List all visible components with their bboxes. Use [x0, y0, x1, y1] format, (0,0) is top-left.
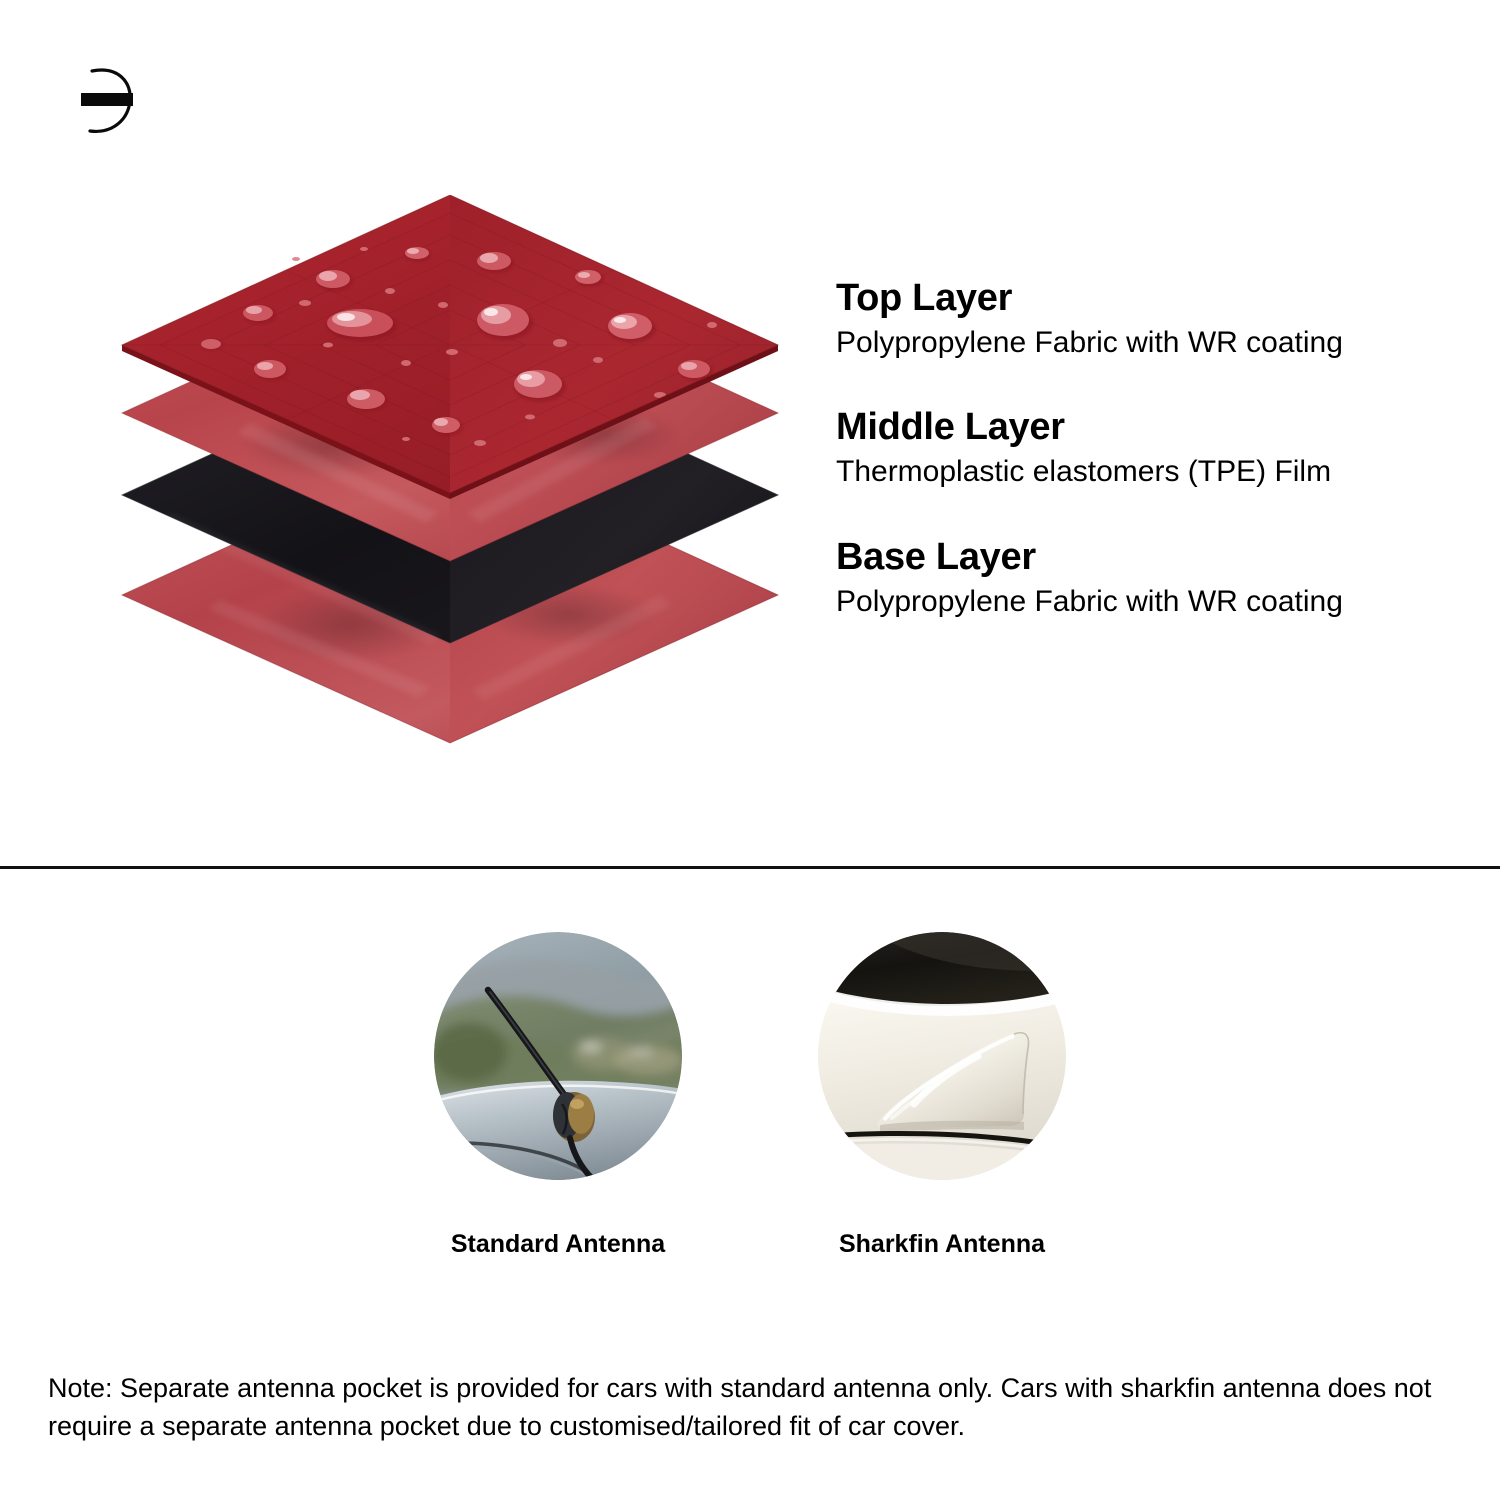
- top-layer-description: Polypropylene Fabric with WR coating: [836, 325, 1456, 362]
- layer-descriptions: Top Layer Polypropylene Fabric with WR c…: [836, 276, 1456, 620]
- middle-layer-title: Middle Layer: [836, 405, 1456, 450]
- fabric-layers-section: Top Layer Polypropylene Fabric with WR c…: [0, 0, 1500, 868]
- standard-antenna-caption: Standard Antenna: [451, 1230, 665, 1259]
- layer-block-top: Top Layer Polypropylene Fabric with WR c…: [836, 276, 1456, 361]
- base-layer-description: Polypropylene Fabric with WR coating: [836, 584, 1456, 621]
- antenna-pocket-note: Note: Separate antenna pocket is provide…: [48, 1369, 1466, 1446]
- sharkfin-antenna-caption: Sharkfin Antenna: [839, 1230, 1045, 1259]
- middle-layer-description: Thermoplastic elastomers (TPE) Film: [836, 454, 1456, 491]
- sharkfin-antenna-photo: [818, 932, 1066, 1180]
- standard-antenna-photo: [434, 932, 682, 1180]
- antenna-section: Standard Antenna: [0, 869, 1500, 1500]
- antenna-comparison-row: Standard Antenna: [433, 932, 1067, 1259]
- layer-block-middle: Middle Layer Thermoplastic elastomers (T…: [836, 405, 1456, 490]
- layer-block-base: Base Layer Polypropylene Fabric with WR …: [836, 535, 1456, 620]
- base-layer-title: Base Layer: [836, 535, 1456, 580]
- top-layer-title: Top Layer: [836, 276, 1456, 321]
- exploded-fabric-layer-diagram: [100, 195, 800, 755]
- antenna-item-sharkfin: Sharkfin Antenna: [817, 932, 1067, 1259]
- antenna-item-standard: Standard Antenna: [433, 932, 683, 1259]
